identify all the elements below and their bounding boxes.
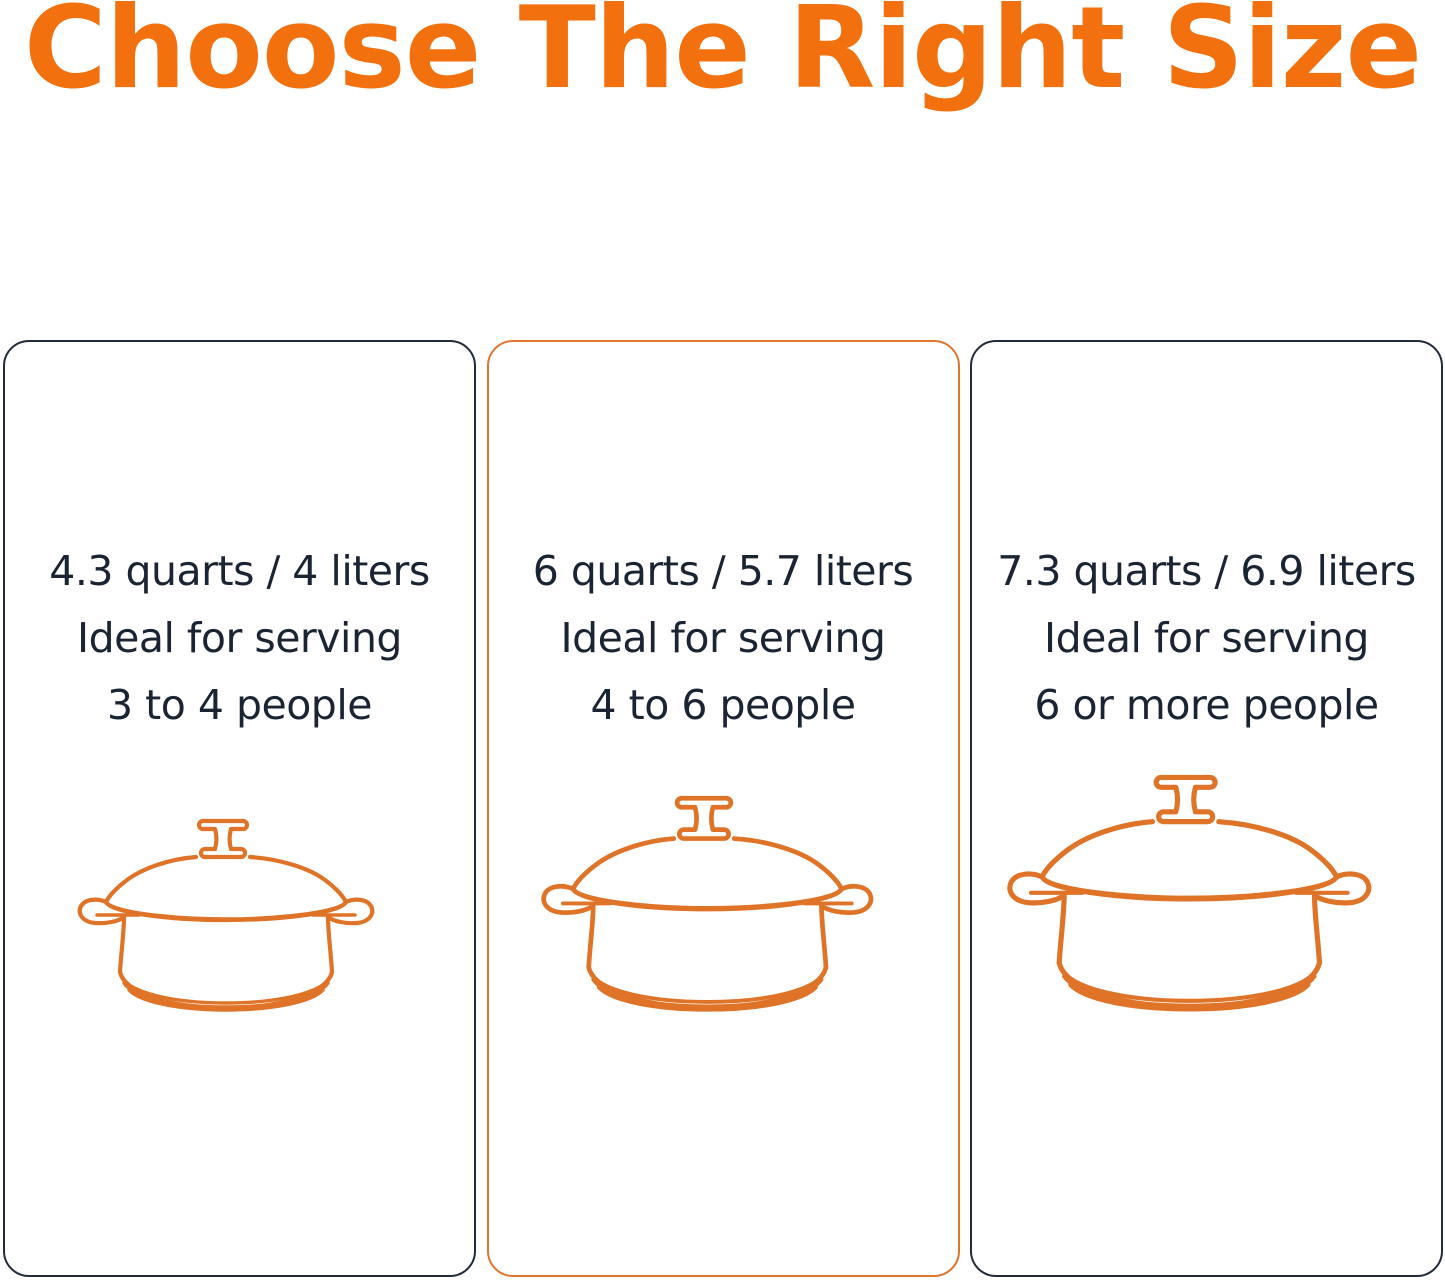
page-title: Choose The Right Size [0,0,1445,108]
ideal-for-label: Ideal for serving [5,605,474,672]
size-card-medium[interactable]: 6 quarts / 5.7 liters Ideal for serving … [487,340,960,1277]
capacity-label: 7.3 quarts / 6.9 liters [972,538,1441,605]
size-card-medium-text: 6 quarts / 5.7 liters Ideal for serving … [489,538,958,739]
capacity-label: 4.3 quarts / 4 liters [5,538,474,605]
dutch-oven-icon [75,802,405,1012]
serving-label: 4 to 6 people [489,672,958,739]
dutch-oven-illustration-medium [489,762,958,1012]
ideal-for-label: Ideal for serving [489,605,958,672]
size-card-large-text: 7.3 quarts / 6.9 liters Ideal for servin… [972,538,1441,739]
size-card-small-text: 4.3 quarts / 4 liters Ideal for serving … [5,538,474,739]
size-card-list: 4.3 quarts / 4 liters Ideal for serving … [3,340,1443,1277]
dutch-oven-icon [538,777,908,1012]
dutch-oven-illustration-small [5,782,474,1012]
capacity-label: 6 quarts / 5.7 liters [489,538,958,605]
serving-label: 3 to 4 people [5,672,474,739]
dutch-oven-illustration-large [972,742,1441,1012]
size-card-large[interactable]: 7.3 quarts / 6.9 liters Ideal for servin… [970,340,1443,1277]
dutch-oven-icon [1004,754,1409,1012]
size-card-small[interactable]: 4.3 quarts / 4 liters Ideal for serving … [3,340,476,1277]
ideal-for-label: Ideal for serving [972,605,1441,672]
size-guide-page: Choose The Right Size 4.3 quarts / 4 lit… [0,0,1445,1281]
serving-label: 6 or more people [972,672,1441,739]
